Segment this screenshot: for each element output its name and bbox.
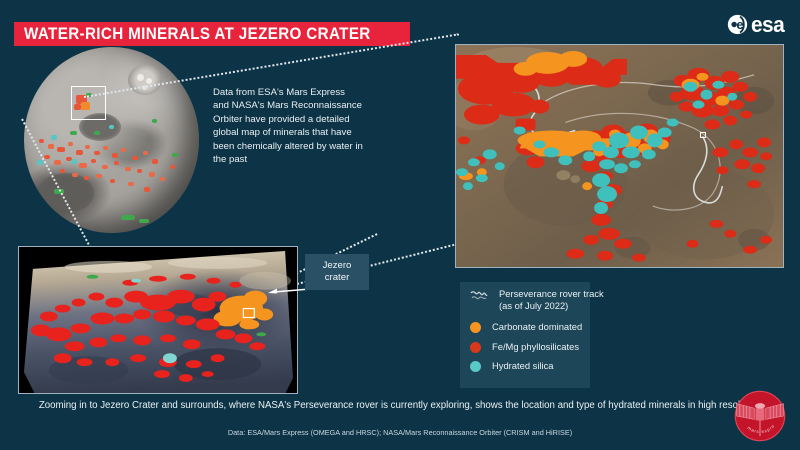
jezero-perspective-view (18, 246, 298, 394)
jezero-pointer-arrow (268, 280, 310, 294)
jezero-detail-map (455, 44, 784, 268)
legend-label-hydrated-silica: Hydrated silica (492, 360, 553, 372)
legend-label-carbonate: Carbonate dominated (492, 321, 582, 333)
intro-paragraph: Data from ESA's Mars Express and NASA's … (213, 86, 363, 166)
footer-caption: Zooming in to Jezero Crater and surround… (0, 400, 800, 411)
legend-rover-track-line2: (as of July 2022) (499, 300, 604, 312)
legend-item-phyllosilicates: Fe/Mg phyllosilicates (470, 341, 770, 353)
esa-logo: e esa (727, 14, 786, 35)
legend-item-hydrated-silica: Hydrated silica (470, 360, 770, 372)
page-title: WATER-RICH MINERALS AT JEZERO CRATER (24, 26, 371, 43)
rover-track-icon (470, 288, 488, 302)
jezero-label-line2: crater (325, 272, 350, 284)
detail-map-image (456, 45, 783, 268)
legend-item-carbonate: Carbonate dominated (470, 321, 770, 333)
svg-text:e: e (736, 17, 743, 32)
legend-item-rover-track: Perseverance rover track (as of July 202… (470, 288, 770, 312)
jezero-crater-label: Jezero crater (305, 254, 369, 290)
legend-swatch-phyllosilicates (470, 342, 481, 353)
legend: Perseverance rover track (as of July 202… (470, 288, 770, 379)
legend-swatch-hydrated-silica (470, 361, 481, 372)
infographic-canvas: WATER-RICH MINERALS AT JEZERO CRATER e e… (0, 0, 800, 450)
mars-globe (24, 47, 199, 233)
esa-wordmark: esa (751, 14, 784, 35)
legend-swatch-carbonate (470, 322, 481, 333)
legend-label-rover-track: Perseverance rover track (as of July 202… (499, 288, 604, 312)
legend-label-phyllosilicates: Fe/Mg phyllosilicates (492, 341, 579, 353)
jezero-highlight-box (71, 86, 106, 120)
footer-data-source: Data: ESA/Mars Express (OMEGA and HRSC);… (0, 428, 800, 437)
mars-express-badge: mars express (732, 388, 788, 444)
legend-rover-track-line1: Perseverance rover track (499, 288, 604, 300)
page-title-banner: WATER-RICH MINERALS AT JEZERO CRATER (14, 22, 410, 46)
mars-globe-sphere (24, 47, 199, 233)
perspective-terrain-image (19, 247, 297, 394)
jezero-label-line1: Jezero (323, 260, 352, 272)
esa-globe-icon: e (727, 14, 748, 35)
